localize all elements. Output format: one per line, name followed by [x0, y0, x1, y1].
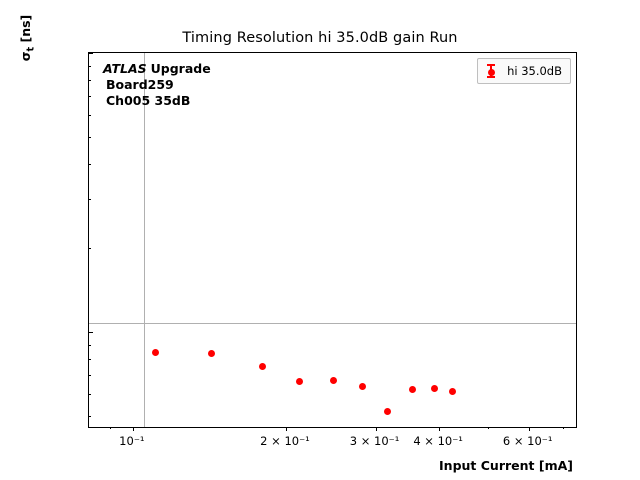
x-tick [286, 427, 287, 431]
legend-marker-icon [484, 63, 498, 79]
x-tick-label: 2 × 10⁻¹ [260, 434, 310, 448]
legend-label: hi 35.0dB [507, 64, 562, 78]
y-tick [89, 394, 91, 395]
y-tick [89, 332, 93, 333]
channel-label: Ch005 35dB [103, 93, 211, 109]
data-point [208, 350, 215, 357]
y-tick [89, 137, 91, 138]
atlas-label: ATLAS [103, 61, 147, 76]
x-tick [563, 427, 564, 429]
x-axis-label: Input Current [mA] [0, 458, 573, 473]
data-point [152, 349, 159, 356]
legend[interactable]: hi 35.0dB [477, 58, 571, 84]
data-point [330, 377, 337, 384]
x-tick-label: 4 × 10⁻¹ [413, 434, 463, 448]
x-tick [529, 427, 530, 431]
plot-axes: ATLAS Upgrade Board259 Ch005 35dB hi 35.… [88, 52, 577, 428]
y-tick [89, 66, 91, 67]
y-tick [89, 80, 91, 81]
gridline-y-1e-1 [89, 323, 576, 324]
y-tick [89, 115, 91, 116]
upgrade-label: Upgrade [151, 61, 211, 76]
data-point [431, 385, 438, 392]
x-tick [376, 427, 377, 431]
data-point [259, 363, 266, 370]
x-tick [488, 427, 489, 429]
y-tick [89, 345, 91, 346]
y-tick [89, 199, 91, 200]
gridline-x-1e-1 [144, 53, 145, 427]
x-tick [110, 427, 111, 429]
chart-title: Timing Resolution hi 35.0dB gain Run [0, 30, 640, 46]
figure: Timing Resolution hi 35.0dB gain Run ATL… [0, 0, 640, 480]
x-tick-label: 10⁻¹ [119, 434, 144, 448]
x-tick-label: 3 × 10⁻¹ [350, 434, 400, 448]
y-tick [89, 53, 93, 54]
y-tick [89, 375, 91, 376]
y-tick [89, 96, 91, 97]
y-tick [89, 416, 91, 417]
y-tick [89, 248, 91, 249]
data-point [384, 408, 391, 415]
atlas-annotation: ATLAS Upgrade Board259 Ch005 35dB [103, 61, 211, 109]
data-point [296, 378, 303, 385]
data-point [449, 388, 456, 395]
x-tick-label: 6 × 10⁻¹ [503, 434, 553, 448]
board-label: Board259 [103, 77, 211, 93]
x-tick [133, 427, 134, 431]
y-tick [89, 359, 91, 360]
y-tick [89, 164, 91, 165]
y-axis-label: σt [ns] [18, 0, 37, 98]
data-point [359, 383, 366, 390]
data-point [409, 386, 416, 393]
x-tick [439, 427, 440, 431]
